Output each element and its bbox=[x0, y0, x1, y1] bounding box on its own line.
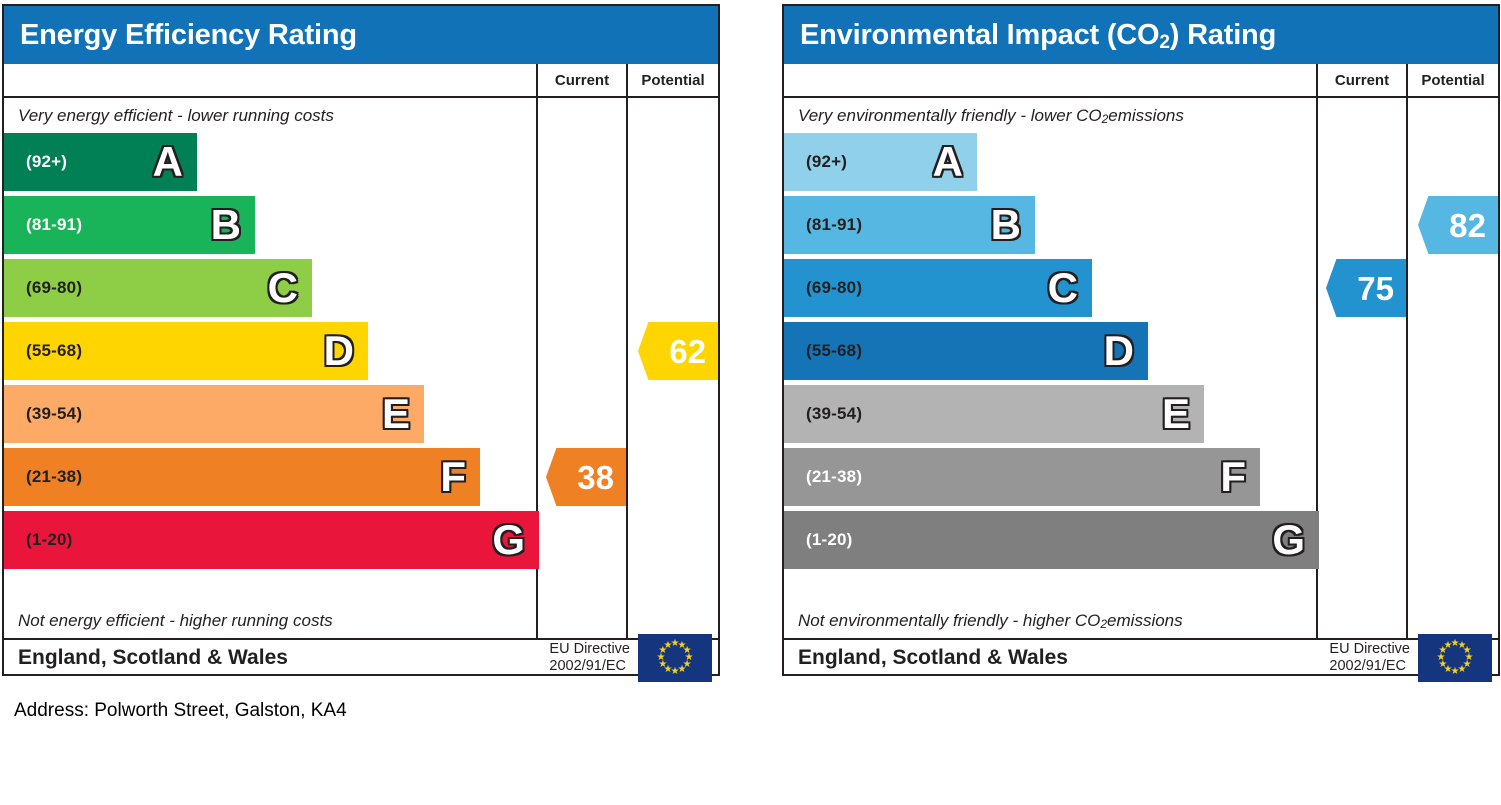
environmental-chart-footer: England, Scotland & Wales EU Directive 2… bbox=[784, 638, 1498, 676]
energy-efficiency-chart: Energy Efficiency Rating Current Potenti… bbox=[2, 4, 720, 676]
environmental-chart-body: Very environmentally friendly - lower CO… bbox=[784, 98, 1498, 638]
energy-caption-top: Very energy efficient - lower running co… bbox=[4, 98, 536, 133]
band-a: (92+)A bbox=[4, 133, 197, 191]
band-range-label: (81-91) bbox=[806, 215, 862, 235]
energy-potential-rating-value: 62 bbox=[669, 335, 706, 368]
band-range-label: (92+) bbox=[806, 152, 847, 172]
eu-flag-icon bbox=[638, 634, 712, 682]
environmental-caption-top-prefix: Very environmentally friendly - lower CO bbox=[798, 106, 1102, 126]
band-d: (55-68)D bbox=[4, 322, 368, 380]
energy-caption-bottom: Not energy efficient - higher running co… bbox=[4, 603, 536, 638]
band-g: (1-20)G bbox=[784, 511, 1319, 569]
environmental-footer-directive: EU Directive 2002/91/EC bbox=[1329, 641, 1410, 674]
band-range-label: (92+) bbox=[26, 152, 67, 172]
environmental-potential-rating-value: 82 bbox=[1449, 209, 1486, 242]
band-range-label: (69-80) bbox=[26, 278, 82, 298]
environmental-column-headers: Current Potential bbox=[784, 64, 1498, 98]
band-letter-label: B bbox=[991, 204, 1021, 246]
band-c: (69-80)C bbox=[4, 259, 312, 317]
environmental-header-spacer bbox=[784, 64, 1318, 96]
energy-column-headers: Current Potential bbox=[4, 64, 718, 98]
band-a: (92+)A bbox=[784, 133, 977, 191]
environmental-caption-top-subscript: 2 bbox=[1102, 112, 1109, 126]
energy-chart-footer: England, Scotland & Wales EU Directive 2… bbox=[4, 638, 718, 676]
band-letter-label: G bbox=[1272, 519, 1305, 561]
band-letter-label: F bbox=[1220, 456, 1246, 498]
energy-current-value-column: 38 bbox=[538, 98, 628, 638]
energy-footer-region: England, Scotland & Wales bbox=[18, 646, 549, 670]
environmental-caption-bottom-subscript: 2 bbox=[1100, 617, 1107, 631]
environmental-band-list: (92+)A(81-91)B(69-80)C(55-68)D(39-54)E(2… bbox=[784, 133, 1316, 603]
band-b: (81-91)B bbox=[4, 196, 255, 254]
energy-header-spacer bbox=[4, 64, 538, 96]
band-e: (39-54)E bbox=[784, 385, 1204, 443]
environmental-footer-region: England, Scotland & Wales bbox=[798, 646, 1329, 670]
band-letter-label: F bbox=[440, 456, 466, 498]
environmental-chart-title: Environmental Impact (CO2) Rating bbox=[800, 21, 1276, 50]
environmental-current-rating-marker: 75 bbox=[1326, 259, 1406, 317]
band-letter-label: A bbox=[153, 141, 183, 183]
band-c: (69-80)C bbox=[784, 259, 1092, 317]
band-letter-label: E bbox=[1162, 393, 1190, 435]
energy-band-list: (92+)A(81-91)B(69-80)C(55-68)D(39-54)E(2… bbox=[4, 133, 536, 603]
environmental-caption-bottom: Not environmentally friendly - higher CO… bbox=[784, 603, 1316, 638]
band-letter-label: C bbox=[268, 267, 298, 309]
energy-bands-column: Very energy efficient - lower running co… bbox=[4, 98, 538, 638]
environmental-caption-top-suffix: emissions bbox=[1108, 106, 1184, 126]
band-g: (1-20)G bbox=[4, 511, 539, 569]
environmental-caption-bottom-prefix: Not environmentally friendly - higher CO bbox=[798, 611, 1100, 631]
band-range-label: (69-80) bbox=[806, 278, 862, 298]
band-letter-label: E bbox=[382, 393, 410, 435]
energy-chart-body: Very energy efficient - lower running co… bbox=[4, 98, 718, 638]
energy-current-rating-value: 38 bbox=[577, 461, 614, 494]
band-letter-label: B bbox=[211, 204, 241, 246]
band-letter-label: C bbox=[1048, 267, 1078, 309]
energy-directive-line-2: 2002/91/EC bbox=[549, 658, 630, 675]
band-letter-label: A bbox=[933, 141, 963, 183]
band-range-label: (39-54) bbox=[806, 404, 862, 424]
band-f: (21-38)F bbox=[784, 448, 1260, 506]
energy-current-rating-marker: 38 bbox=[546, 448, 626, 506]
environmental-potential-rating-marker: 82 bbox=[1418, 196, 1498, 254]
energy-potential-value-column: 62 bbox=[628, 98, 718, 638]
environmental-chart-header: Environmental Impact (CO2) Rating bbox=[784, 6, 1498, 64]
environmental-potential-value-column: 82 bbox=[1408, 98, 1498, 638]
band-range-label: (1-20) bbox=[806, 530, 853, 550]
band-b: (81-91)B bbox=[784, 196, 1035, 254]
property-address: Address: Polworth Street, Galston, KA4 bbox=[14, 700, 347, 722]
band-f: (21-38)F bbox=[4, 448, 480, 506]
environmental-current-value-column: 75 bbox=[1318, 98, 1408, 638]
band-range-label: (55-68) bbox=[806, 341, 862, 361]
band-range-label: (1-20) bbox=[26, 530, 73, 550]
environmental-current-column-header: Current bbox=[1318, 64, 1408, 96]
energy-current-column-header: Current bbox=[538, 64, 628, 96]
energy-potential-column-header: Potential bbox=[628, 64, 718, 96]
band-range-label: (39-54) bbox=[26, 404, 82, 424]
environmental-title-suffix: ) Rating bbox=[1170, 19, 1276, 51]
energy-chart-header: Energy Efficiency Rating bbox=[4, 6, 718, 64]
environmental-title-prefix: Environmental Impact (CO bbox=[800, 19, 1159, 51]
band-letter-label: D bbox=[1104, 330, 1134, 372]
energy-chart-title: Energy Efficiency Rating bbox=[20, 21, 357, 50]
environmental-directive-line-1: EU Directive bbox=[1329, 641, 1410, 658]
environmental-directive-line-2: 2002/91/EC bbox=[1329, 658, 1410, 675]
energy-potential-rating-marker: 62 bbox=[638, 322, 718, 380]
environmental-caption-top: Very environmentally friendly - lower CO… bbox=[784, 98, 1316, 133]
environmental-title-subscript: 2 bbox=[1159, 32, 1169, 53]
band-letter-label: D bbox=[324, 330, 354, 372]
environmental-impact-chart: Environmental Impact (CO2) Rating Curren… bbox=[782, 4, 1500, 676]
band-range-label: (21-38) bbox=[806, 467, 862, 487]
band-letter-label: G bbox=[492, 519, 525, 561]
band-range-label: (55-68) bbox=[26, 341, 82, 361]
environmental-caption-bottom-suffix: emissions bbox=[1107, 611, 1183, 631]
environmental-bands-column: Very environmentally friendly - lower CO… bbox=[784, 98, 1318, 638]
band-range-label: (81-91) bbox=[26, 215, 82, 235]
energy-directive-line-1: EU Directive bbox=[549, 641, 630, 658]
band-d: (55-68)D bbox=[784, 322, 1148, 380]
environmental-current-rating-value: 75 bbox=[1357, 272, 1394, 305]
energy-footer-directive: EU Directive 2002/91/EC bbox=[549, 641, 630, 674]
environmental-potential-column-header: Potential bbox=[1408, 64, 1498, 96]
eu-flag-icon bbox=[1418, 634, 1492, 682]
band-range-label: (21-38) bbox=[26, 467, 82, 487]
band-e: (39-54)E bbox=[4, 385, 424, 443]
